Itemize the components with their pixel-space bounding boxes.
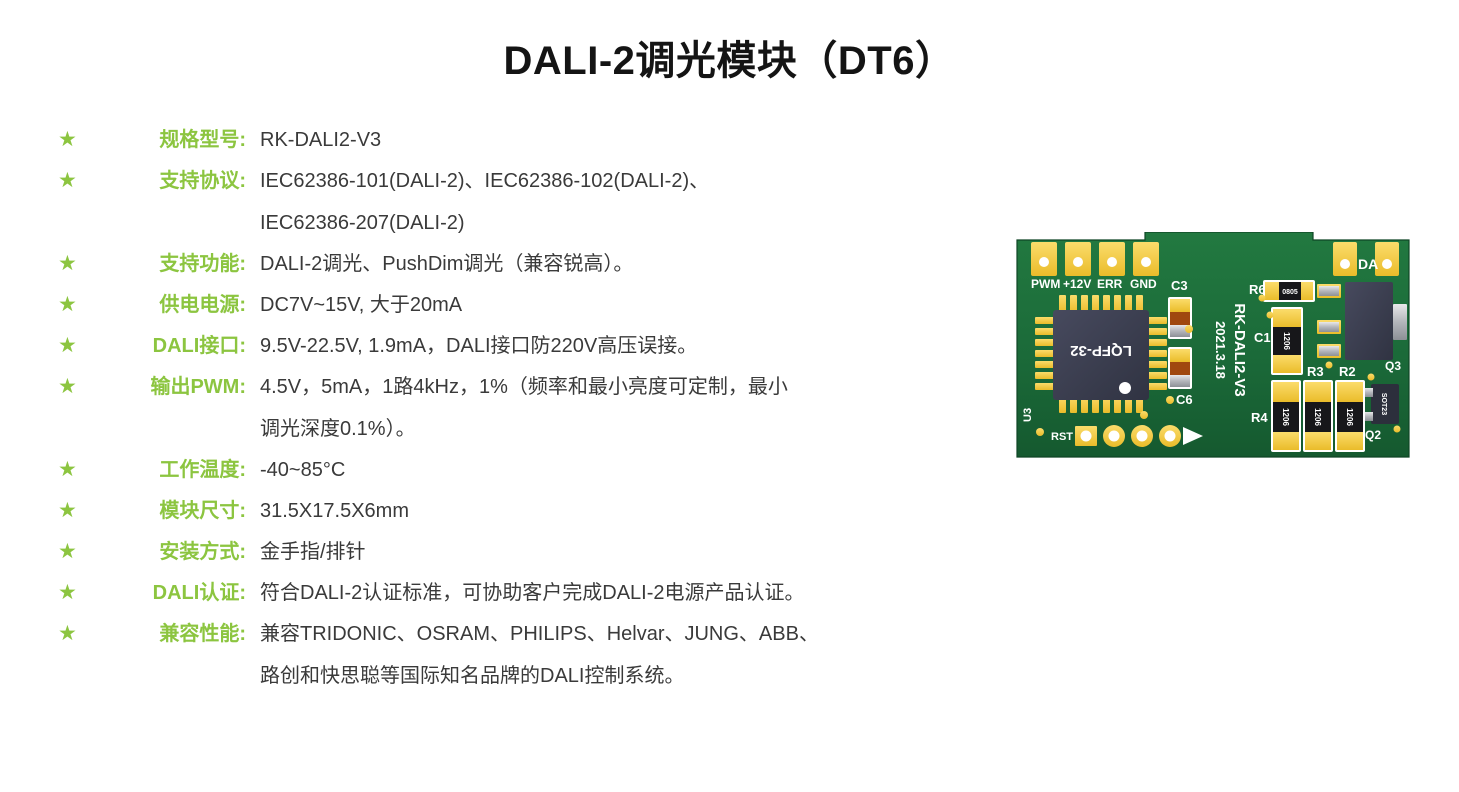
spec-value-line: RK-DALI2-V3 [260,124,978,156]
spec-value: 31.5X17.5X6mm [246,495,978,527]
star-icon: ★ [58,495,94,526]
spec-label: 工作温度: [94,454,246,486]
pcb-label-gnd: GND [1130,277,1157,291]
svg-text:C6: C6 [1176,392,1193,407]
star-icon: ★ [58,454,94,485]
spec-row: ★ 工作温度: -40~85°C [58,454,978,486]
pcb-label-12v: +12V [1063,277,1091,291]
pcb-component-c6: C6 [1166,347,1193,407]
spec-value-line: 9.5V-22.5V, 1.9mA，DALI接口防220V高压误接。 [260,330,978,362]
svg-text:C3: C3 [1171,278,1188,293]
spec-value: DALI-2调光、PushDim调光（兼容锐高）。 [246,248,978,280]
spec-label: 兼容性能: [94,618,246,650]
star-icon: ★ [58,371,94,402]
pcb-label-err: ERR [1097,277,1123,291]
spec-value: 4.5V，5mA，1路4kHz，1%（频率和最小亮度可定制，最小 调光深度0.1… [246,371,978,445]
pcb-module-image: PWM +12V ERR GND DA [1013,232,1417,464]
pcb-label-da: DA [1358,256,1378,272]
spec-label: 输出PWM: [94,371,246,403]
svg-text:1206: 1206 [1313,408,1322,426]
svg-text:SOT23: SOT23 [1380,393,1387,415]
svg-text:0805: 0805 [1282,289,1298,296]
spec-row: ★ 支持功能: DALI-2调光、PushDim调光（兼容锐高）。 [58,248,978,280]
spec-label: 模块尺寸: [94,495,246,527]
star-icon: ★ [58,618,94,649]
svg-text:1206: 1206 [1281,408,1290,426]
spec-label: 支持协议: [94,165,246,197]
spec-value-line: 调光深度0.1%）。 [260,413,978,445]
spec-value-line: IEC62386-101(DALI-2)、IEC62386-102(DALI-2… [260,165,978,197]
spec-value-line: 符合DALI-2认证标准，可协助客户完成DALI-2电源产品认证。 [260,577,978,609]
spec-value: 符合DALI-2认证标准，可协助客户完成DALI-2电源产品认证。 [246,577,978,609]
spec-value: -40~85°C [246,454,978,486]
spec-value-line: 金手指/排针 [260,536,978,568]
spec-row: ★ 供电电源: DC7V~15V, 大于20mA [58,289,978,321]
star-icon: ★ [58,248,94,279]
svg-text:R4: R4 [1251,410,1268,425]
spec-value-line: 31.5X17.5X6mm [260,495,978,527]
svg-text:Q2: Q2 [1365,428,1381,442]
svg-text:C1: C1 [1254,330,1271,345]
spec-label: DALI接口: [94,330,246,362]
pcb-component-r6: R6 0805 [1249,280,1315,302]
spec-value: 兼容TRIDONIC、OSRAM、PHILIPS、Helvar、JUNG、ABB… [246,618,978,692]
spec-value-line: 路创和快思聪等国际知名品牌的DALI控制系统。 [260,660,978,692]
spec-row: ★ 规格型号: RK-DALI2-V3 [58,124,978,156]
spec-value: RK-DALI2-V3 [246,124,978,156]
pcb-inner-pads [1317,284,1341,369]
star-icon: ★ [58,165,94,196]
spec-value: 金手指/排针 [246,536,978,568]
star-icon: ★ [58,577,94,608]
spec-row: ★ DALI认证: 符合DALI-2认证标准，可协助客户完成DALI-2电源产品… [58,577,978,609]
spec-row: ★ 模块尺寸: 31.5X17.5X6mm [58,495,978,527]
star-icon: ★ [58,124,94,155]
pcb-label-u3: U3 [1022,408,1034,422]
spec-value-line: DALI-2调光、PushDim调光（兼容锐高）。 [260,248,978,280]
pcb-label-pwm: PWM [1031,277,1060,291]
svg-text:R2: R2 [1339,364,1356,379]
spec-value-line: 4.5V，5mA，1路4kHz，1%（频率和最小亮度可定制，最小 [260,371,978,403]
star-icon: ★ [58,536,94,567]
pcb-board-date: 2021.3.18 [1213,321,1228,379]
pcb-label-chip: LQFP-32 [1070,342,1132,359]
spec-row: ★ 兼容性能: 兼容TRIDONIC、OSRAM、PHILIPS、Helvar、… [58,618,978,692]
page-title: DALI-2调光模块（DT6） [0,28,1459,86]
spec-value-line: 兼容TRIDONIC、OSRAM、PHILIPS、Helvar、JUNG、ABB… [260,618,978,650]
svg-text:1206: 1206 [1282,332,1291,350]
spec-label: 规格型号: [94,124,246,156]
pcb-chip-lqfp32: LQFP-32 [1035,295,1167,413]
svg-text:R3: R3 [1307,364,1324,379]
spec-value: DC7V~15V, 大于20mA [246,289,978,321]
spec-value: IEC62386-101(DALI-2)、IEC62386-102(DALI-2… [246,165,978,239]
spec-value-line: IEC62386-207(DALI-2) [260,207,978,239]
svg-text:Q3: Q3 [1385,359,1401,373]
spec-row: ★ 支持协议: IEC62386-101(DALI-2)、IEC62386-10… [58,165,978,239]
spec-row: ★ 安装方式: 金手指/排针 [58,536,978,568]
spec-label: 供电电源: [94,289,246,321]
pcb-board-name: RK-DALI2-V3 [1231,303,1248,396]
pcb-label-rst: RST [1051,431,1073,443]
spec-value: 9.5V-22.5V, 1.9mA，DALI接口防220V高压误接。 [246,330,978,362]
spec-sheet-page: DALI-2调光模块（DT6） ★ 规格型号: RK-DALI2-V3 ★ 支持… [0,0,1459,792]
star-icon: ★ [58,289,94,320]
spec-value-line: DC7V~15V, 大于20mA [260,289,978,321]
spec-list: ★ 规格型号: RK-DALI2-V3 ★ 支持协议: IEC62386-101… [58,124,978,701]
spec-label: 支持功能: [94,248,246,280]
spec-label: DALI认证: [94,577,246,609]
svg-text:1206: 1206 [1345,408,1354,426]
spec-label: 安装方式: [94,536,246,568]
spec-row: ★ 输出PWM: 4.5V，5mA，1路4kHz，1%（频率和最小亮度可定制，最… [58,371,978,445]
spec-value-line: -40~85°C [260,454,978,486]
spec-row: ★ DALI接口: 9.5V-22.5V, 1.9mA，DALI接口防220V高… [58,330,978,362]
star-icon: ★ [58,330,94,361]
